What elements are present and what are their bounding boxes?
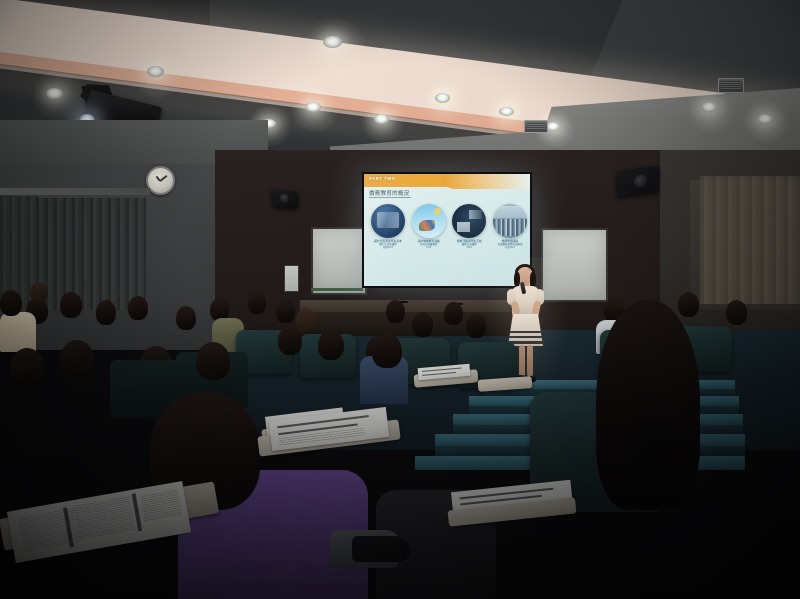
slide-circle-image-2 [412, 204, 446, 238]
downlight-2 [46, 88, 63, 99]
presenter-legs [518, 345, 534, 379]
vent-louvers [721, 81, 741, 90]
attendee-head [412, 312, 433, 337]
attendee-head [30, 282, 48, 302]
attendee-head [318, 330, 344, 360]
presenter-leg-right [527, 345, 533, 377]
slide-circle-image-4 [493, 204, 527, 238]
attendee-head [128, 296, 148, 320]
printed-handout-foreground [7, 481, 191, 563]
attendee-head [726, 300, 747, 325]
whiteboard-left [311, 227, 367, 295]
attendee-head [248, 292, 266, 314]
presenter-skirt [508, 314, 543, 346]
attendee-foreground-right [596, 300, 700, 510]
downlight-7 [435, 93, 450, 103]
attendee-head [276, 300, 295, 323]
handout-rule [422, 372, 456, 376]
slide-accent-curve [440, 174, 530, 189]
speaker-cone [280, 193, 289, 203]
attendee-shoe-sole [352, 536, 410, 562]
slide-circle-item-1: 國外華裔學生學生基本 僑大先修班課程 國際2019 [370, 204, 406, 250]
right-window-curtain [700, 176, 800, 304]
presenter-forearm-right [532, 300, 542, 315]
slide-caption-3: 僑教活動與學生互動 國際交流課程 2019 [457, 240, 482, 250]
attendee-head [196, 342, 230, 380]
handout-text-block [140, 490, 182, 522]
speaker-cone [634, 174, 647, 189]
slide-part-label: PART TWO [369, 176, 396, 181]
curtain-rail-left [0, 188, 150, 195]
presenter-hair-side-left [514, 272, 520, 287]
attendee-head [386, 300, 405, 323]
air-vent-1 [524, 120, 548, 133]
downlight-3 [147, 66, 164, 77]
downlight-11 [757, 114, 773, 124]
attendee-head [60, 340, 94, 378]
attendee-head [372, 334, 402, 368]
attendee-head [60, 292, 82, 318]
handout-text-block [75, 496, 136, 539]
attendee-head [678, 292, 699, 317]
downlight-1 [323, 36, 342, 48]
wall-mounted-speaker [617, 165, 659, 196]
whiteboard-left-small [284, 265, 299, 292]
slide-circle-item-3: 僑教活動與學生互動 國際交流課程 2019 [451, 204, 487, 250]
attendee-head [278, 326, 302, 355]
slide-circle-item-4: 僑務專題講座 台灣僑校師資培訓研習 研習2019 [492, 204, 528, 250]
attendee-head [444, 302, 463, 325]
attendee-head [466, 314, 486, 338]
attendee-head [96, 300, 116, 325]
skirt-stripe [508, 331, 543, 333]
slide-circle-image-1 [371, 204, 405, 238]
presenter-leg-left [519, 345, 525, 377]
slide-title-underline [369, 197, 411, 198]
attendee-head [10, 348, 44, 386]
whiteboard-left-marker-tray [311, 288, 363, 291]
downlight-10 [701, 102, 717, 112]
presenter-hair-side-right [530, 272, 536, 287]
slide-circle-row: 國外華裔學生學生基本 僑大先修班課程 國際2019 海外僑校教育訓練 在地方推廣… [370, 204, 528, 250]
downlight-5 [374, 114, 389, 124]
wall-clock [146, 166, 175, 195]
downlight-9 [546, 122, 560, 131]
whiteboard-right [541, 228, 608, 302]
skirt-stripe [508, 336, 543, 338]
attendee-head [0, 290, 22, 316]
slide-caption-2: 海外僑校教育訓練 在地方推廣教育 2019 [418, 240, 440, 250]
lecture-hall-photo: PART TWO 僑務教育的概況 國外華裔學生學生基本 僑大先修班課程 國際20… [0, 0, 800, 599]
downlight-4 [305, 102, 321, 112]
slide-circle-item-2: 海外僑校教育訓練 在地方推廣教育 2019 [411, 204, 447, 250]
slide-caption-4: 僑務專題講座 台灣僑校師資培訓研習 研習2019 [497, 240, 522, 250]
downlight-8 [499, 107, 514, 116]
wall-mounted-speaker-left [272, 189, 298, 209]
clock-minute-hand [159, 175, 167, 182]
slide-caption-1: 國外華裔學生學生基本 僑大先修班課程 國際2019 [374, 240, 402, 250]
vent-louvers [527, 123, 545, 130]
slide-title: 僑務教育的概況 [369, 189, 410, 197]
left-window-curtain [36, 198, 146, 310]
air-vent-2 [718, 78, 744, 93]
attendee-cream-shirt [0, 312, 36, 352]
slide-circle-image-3 [452, 204, 486, 238]
attendee-head [296, 308, 316, 332]
attendee-head [176, 306, 196, 330]
